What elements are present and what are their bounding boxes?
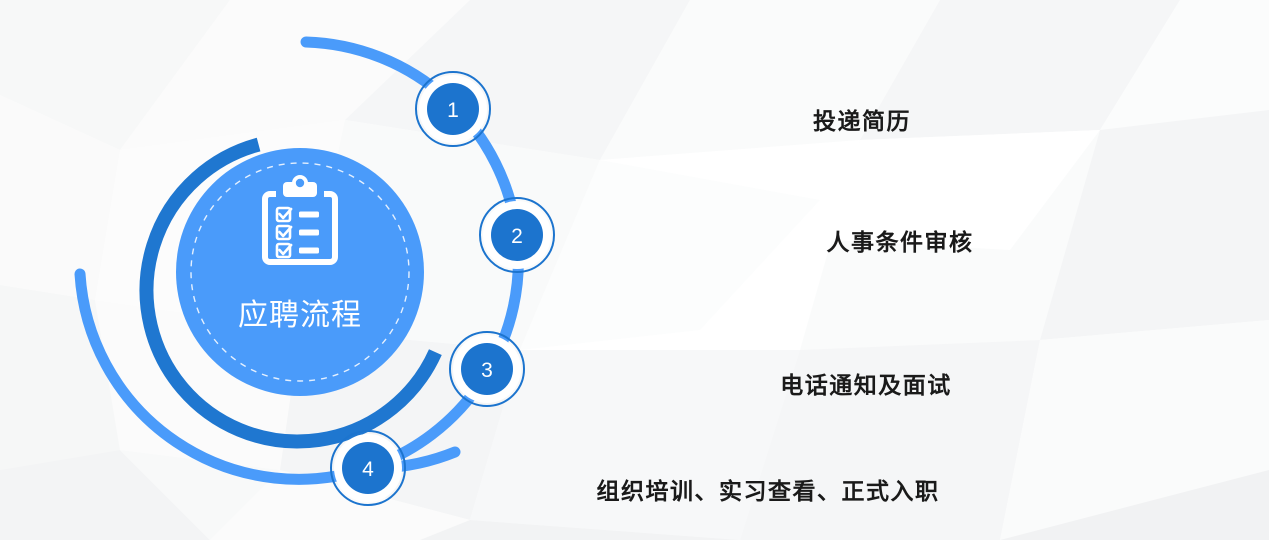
- step-badge-3-number: 3: [481, 359, 493, 382]
- step-label-4: 组织培训、实习查看、正式入职: [597, 472, 940, 506]
- step-label-2: 人事条件审核: [827, 223, 974, 257]
- step-badge-1-number: 1: [447, 99, 459, 122]
- step-label-3: 电话通知及面试: [780, 366, 952, 400]
- step-badge-4-number: 4: [362, 458, 374, 481]
- step-badge-1[interactable]: 1: [416, 72, 490, 146]
- step-badge-4[interactable]: 4: [331, 431, 405, 505]
- step-badge-3[interactable]: 3: [450, 332, 524, 406]
- recruitment-process-infographic: 应聘流程 1 2 3: [0, 0, 1269, 540]
- center-title: 应聘流程: [238, 299, 362, 332]
- process-circle-diagram: 应聘流程 1 2 3: [0, 0, 1269, 540]
- step-label-1: 投递简历: [813, 102, 911, 136]
- step-badge-2-number: 2: [511, 225, 523, 248]
- step-badge-2[interactable]: 2: [480, 198, 554, 272]
